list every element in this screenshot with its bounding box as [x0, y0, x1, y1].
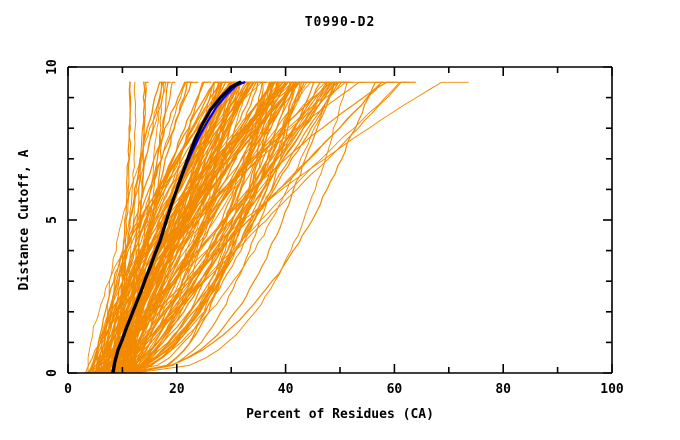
x-tick-label: 80 — [495, 382, 511, 397]
x-tick-label: 100 — [600, 382, 624, 397]
x-tick-label: 40 — [278, 382, 294, 397]
x-tick-label: 0 — [64, 382, 72, 397]
plot-canvas: 0204060801000510Percent of Residues (CA)… — [0, 0, 680, 440]
x-tick-label: 60 — [387, 382, 403, 397]
x-tick-label: 20 — [169, 382, 185, 397]
prediction-curves-layer — [85, 82, 468, 373]
y-tick-label: 0 — [45, 369, 60, 377]
x-axis-title: Percent of Residues (CA) — [246, 407, 434, 422]
y-axis-title: Distance Cutoff, A — [17, 149, 32, 290]
chart-root: T0990-D2 0204060801000510Percent of Resi… — [0, 0, 680, 440]
y-tick-label: 10 — [45, 59, 60, 75]
y-tick-label: 5 — [45, 216, 60, 224]
